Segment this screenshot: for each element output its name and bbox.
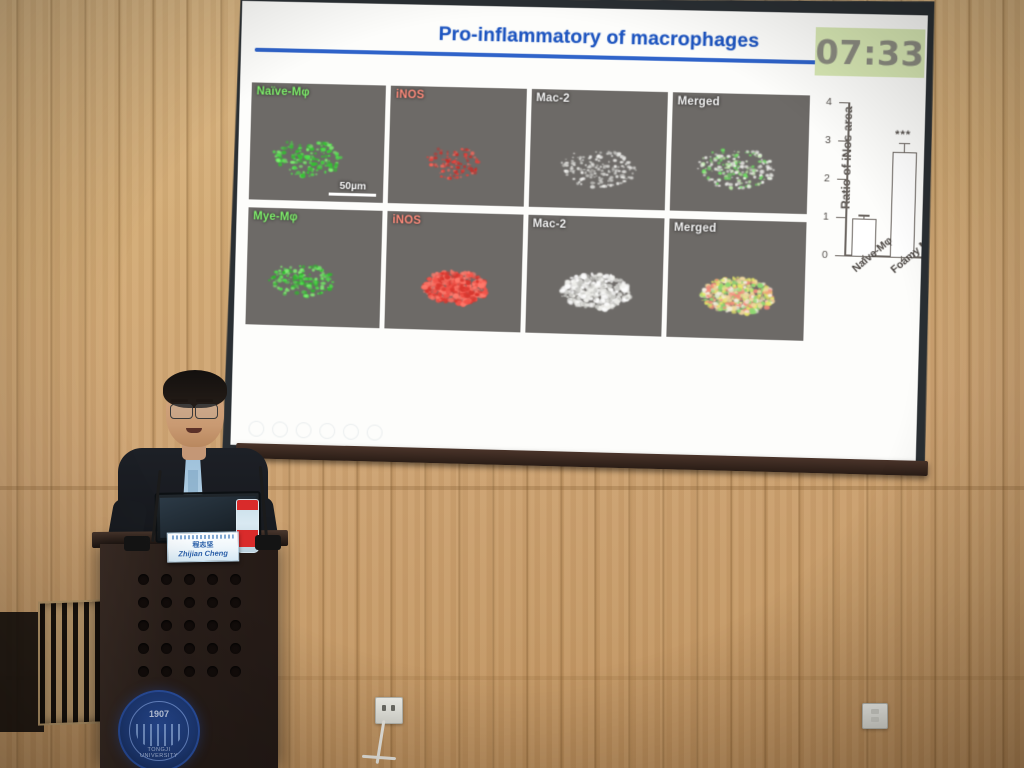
fluorescence-speckle — [308, 286, 312, 290]
fluorescence-speckle — [587, 167, 589, 169]
fluorescence-speckle — [324, 171, 327, 173]
fluorescence-speckle — [704, 156, 708, 159]
fluorescence-speckle — [744, 152, 746, 154]
fluorescence-speckle — [315, 286, 319, 289]
fluorescence-speckle — [305, 164, 307, 165]
fluorescence-speckle — [725, 167, 728, 169]
fluorescence-speckle — [315, 173, 318, 175]
fluorescence-speckle — [299, 165, 303, 168]
fluorescence-speckle — [627, 165, 631, 168]
micrograph-row-naive: Naïve-Mφ 50µm iNOS Mac-2 Merged — [249, 82, 810, 214]
fluorescence-speckle — [715, 153, 718, 155]
fluorescence-speckle — [290, 150, 292, 152]
fluorescence-speckle — [320, 284, 324, 287]
logo-year: 1907 — [130, 709, 188, 719]
fluorescence-speckle — [324, 143, 327, 146]
fluorescence-speckle — [733, 285, 736, 288]
fluorescence-speckle — [294, 291, 299, 295]
fluorescence-speckle — [631, 173, 633, 175]
fluorescence-speckle — [292, 281, 296, 284]
fluorescence-speckle — [614, 165, 617, 167]
fluorescence-speckle — [289, 266, 292, 269]
fluorescence-speckle — [621, 170, 625, 173]
fluorescence-speckle — [588, 164, 591, 166]
podium-vent-hole — [138, 643, 149, 654]
fluorescence-speckle — [431, 273, 435, 276]
fluorescence-speckle — [733, 151, 735, 152]
fluorescence-speckle — [452, 175, 455, 177]
scale-bar: 50µm — [329, 180, 377, 197]
fluorescence-speckle — [330, 278, 332, 280]
fluorescence-speckle — [611, 155, 614, 157]
fluorescence-speckle — [309, 274, 311, 276]
fluorescence-speckle — [589, 277, 592, 279]
chart-y-tick-label: 0 — [822, 249, 828, 261]
fluorescence-speckle — [464, 148, 468, 151]
fluorescence-speckle — [604, 302, 609, 306]
podium-vent-hole — [207, 666, 218, 677]
fluorescence-speckle — [635, 169, 637, 171]
fluorescence-speckle — [717, 179, 721, 183]
university-logo: 1907 TONGJI UNIVERSITY — [118, 690, 200, 768]
fluorescence-speckle — [483, 290, 490, 295]
fluorescence-speckle — [616, 166, 619, 169]
fluorescence-speckle — [749, 299, 752, 301]
fluorescence-speckle — [734, 168, 736, 170]
fluorescence-speckle — [607, 171, 610, 173]
fluorescence-speckle — [722, 279, 725, 282]
fluorescence-speckle — [605, 173, 609, 176]
fluorescence-speckle — [275, 279, 277, 281]
fluorescence-speckle — [433, 294, 435, 296]
fluorescence-speckle — [593, 303, 595, 305]
fluorescence-speckle — [752, 170, 754, 172]
fluorescence-speckle — [709, 159, 712, 162]
fluorescence-speckle — [566, 174, 569, 176]
microphone-left-base — [124, 536, 150, 551]
name-placard: 程志坚 Zhijian Cheng — [167, 531, 240, 562]
fluorescence-speckle — [589, 156, 593, 159]
fluorescence-speckle — [602, 284, 606, 287]
fluorescence-speckle — [439, 299, 441, 301]
podium-vent-hole — [207, 643, 218, 654]
fluorescence-speckle — [713, 157, 716, 159]
fluorescence-speckle — [310, 293, 314, 296]
fluorescence-speckle — [584, 306, 587, 308]
chart-y-tick-label: 4 — [826, 96, 832, 108]
fluorescence-speckle — [468, 278, 471, 280]
fluorescence-speckle — [615, 287, 620, 291]
fluorescence-speckle — [317, 293, 320, 295]
fluorescence-speckle — [460, 279, 464, 282]
fluorescence-speckle — [596, 152, 598, 153]
fluorescence-speckle — [461, 169, 465, 172]
podium-vent-hole — [184, 574, 195, 585]
fluorescence-speckle — [581, 286, 585, 289]
fluorescence-speckle — [317, 141, 321, 144]
fluorescence-speckle — [723, 164, 725, 166]
fluorescence-speckle — [743, 177, 746, 179]
screen-surface: Pro-inflammatory of macrophages 07:33 Na… — [230, 1, 927, 467]
fluorescence-speckle — [308, 167, 313, 171]
fluorescence-speckle — [737, 165, 739, 167]
wall-socket[interactable] — [375, 697, 403, 724]
podium-vent-hole — [207, 574, 218, 585]
fluorescence-speckle — [755, 184, 757, 186]
fluorescence-speckle — [606, 165, 610, 168]
fluorescence-speckle — [469, 155, 472, 158]
podium-vent-hole — [138, 666, 149, 677]
fluorescence-speckle — [314, 152, 317, 154]
fluorescence-speckle — [587, 282, 590, 284]
fluorescence-speckle — [745, 161, 747, 163]
fluorescence-speckle — [602, 185, 605, 187]
chart-y-tick-label: 2 — [824, 172, 830, 184]
podium-vent-hole — [207, 597, 218, 608]
logo-ring: 1907 TONGJI UNIVERSITY — [129, 701, 189, 761]
fluorescence-speckle — [282, 151, 287, 155]
more-icon[interactable] — [367, 424, 383, 440]
panel-label: Naïve-Mφ — [256, 85, 309, 98]
fluorescence-speckle — [609, 274, 612, 276]
panel-label: iNOS — [392, 214, 421, 227]
fluorescence-speckle — [734, 171, 738, 174]
fluorescence-speckle — [290, 145, 294, 148]
fluorescence-speckle — [431, 289, 436, 293]
fluorescence-speckle — [304, 295, 307, 298]
fluorescence-speckle — [426, 156, 429, 158]
fluorescence-speckle — [470, 172, 473, 175]
fluorescence-speckle — [751, 310, 756, 314]
fluorescence-speckle — [308, 266, 311, 268]
fluorescence-speckle — [596, 175, 597, 176]
pen-icon[interactable] — [248, 421, 264, 437]
fluorescence-speckle — [430, 159, 434, 162]
fluorescence-speckle — [613, 159, 617, 162]
fluorescence-speckle — [590, 293, 593, 295]
bottle-cap — [237, 500, 258, 510]
fluorescence-speckle — [767, 169, 769, 170]
fluorescence-speckle — [615, 175, 618, 177]
fluorescence-speckle — [592, 275, 596, 278]
zoom-icon[interactable] — [343, 424, 359, 440]
fluorescence-speckle — [629, 176, 633, 179]
fluorescence-speckle — [456, 287, 458, 289]
fluorescence-speckle — [428, 287, 431, 290]
fluorescence-speckle — [299, 150, 301, 152]
fluorescence-speckle — [456, 299, 458, 301]
fluorescence-speckle — [453, 154, 455, 156]
logo-emblem — [136, 724, 182, 746]
fluorescence-speckle — [745, 310, 749, 314]
podium-vent-hole — [138, 597, 149, 608]
fluorescence-speckle — [747, 185, 751, 188]
chart-y-tick-label: 3 — [825, 134, 831, 146]
projection-screen: Pro-inflammatory of macrophages 07:33 Na… — [219, 0, 937, 480]
fluorescence-speckle — [451, 160, 454, 162]
fluorescence-speckle — [315, 169, 318, 171]
fluorescence-speckle — [465, 280, 471, 285]
fluorescence-speckle — [601, 169, 603, 171]
fluorescence-speckle — [327, 279, 329, 281]
highlighter-icon[interactable] — [272, 421, 288, 437]
fluorescence-speckle — [715, 293, 720, 297]
fluorescence-speckle — [444, 176, 446, 177]
fluorescence-speckle — [590, 182, 594, 185]
fluorescence-speckle — [731, 177, 733, 178]
fluorescence-speckle — [287, 284, 289, 286]
fluorescence-speckle — [466, 160, 469, 163]
fluorescence-speckle — [444, 301, 447, 304]
fluorescence-speckle — [741, 171, 744, 173]
fluorescence-speckle — [303, 274, 306, 276]
fluorescence-speckle — [610, 179, 614, 182]
fluorescence-speckle — [474, 169, 477, 171]
fluorescence-speckle — [760, 155, 763, 157]
fluorescence-speckle — [325, 159, 328, 161]
podium-vent-hole — [230, 643, 241, 654]
panel-mye-green: Mye-Mφ — [245, 207, 382, 328]
fluorescence-speckle — [620, 284, 625, 288]
fluorescence-speckle — [440, 165, 444, 168]
fluorescence-speckle — [448, 177, 451, 180]
speaker-brow-right — [196, 399, 213, 402]
fluorescence-speckle — [312, 290, 314, 292]
fluorescence-speckle — [567, 299, 572, 303]
fluorescence-speckle — [333, 151, 337, 154]
fluorescence-speckle — [324, 155, 328, 158]
fluorescence-speckle — [299, 265, 301, 266]
fluorescence-speckle — [727, 306, 733, 311]
podium-vent-hole — [230, 574, 241, 585]
panel-label: Mac-2 — [533, 218, 567, 231]
fluorescence-speckle — [602, 165, 606, 168]
switch-rocker-lower — [871, 717, 879, 722]
fluorescence-speckle — [310, 152, 312, 154]
fluorescence-speckle — [594, 177, 595, 178]
podium-vent-hole — [138, 620, 149, 631]
chart-y-tick — [839, 102, 848, 104]
fluorescence-speckle — [709, 301, 712, 304]
fluorescence-speckle — [751, 284, 756, 288]
eyeglasses-left-lens — [170, 404, 193, 419]
fluorescence-speckle — [445, 275, 450, 279]
fluorescence-speckle — [444, 294, 450, 299]
fluorescence-speckle — [586, 174, 590, 177]
fluorescence-speckle — [719, 162, 721, 164]
chart-y-tick — [838, 140, 847, 142]
fluorescence-speckle — [273, 151, 276, 154]
fluorescence-speckle — [460, 173, 462, 175]
fluorescence-speckle — [277, 279, 282, 283]
fluorescence-speckle — [737, 151, 740, 154]
fluorescence-speckle — [439, 172, 440, 173]
fluorescence-speckle — [291, 173, 294, 175]
fluorescence-speckle — [285, 280, 289, 284]
fluorescence-speckle — [566, 291, 569, 293]
fluorescence-speckle — [328, 273, 332, 277]
fluorescence-speckle — [751, 152, 754, 154]
fluorescence-speckle — [585, 164, 587, 166]
fluorescence-speckle — [478, 283, 484, 288]
fluorescence-speckle — [726, 169, 730, 172]
fluorescence-speckle — [298, 159, 303, 163]
podium-vent-hole — [161, 666, 172, 677]
fluorescence-speckle — [466, 174, 468, 176]
fluorescence-speckle — [582, 173, 584, 174]
chart-x-tick-labels: Naïve-MφFoamy Mφ — [816, 98, 928, 101]
fluorescence-speckle — [464, 154, 468, 157]
fluorescence-speckle — [452, 298, 454, 300]
fluorescence-speckle — [573, 164, 576, 166]
fluorescence-speckle — [327, 150, 331, 153]
fluorescence-speckle — [726, 163, 730, 166]
fluorescence-speckle — [457, 287, 461, 290]
fluorescence-speckle — [455, 166, 458, 168]
fluorescence-speckle — [569, 293, 573, 296]
podium-vent-hole — [184, 620, 195, 631]
fluorescence-speckle — [763, 296, 766, 298]
fluorescence-speckle — [268, 279, 270, 281]
fluorescence-speckle — [613, 151, 616, 154]
chart-error-bar — [863, 217, 864, 220]
slides-icon[interactable] — [319, 423, 335, 439]
socket-slot-right — [391, 705, 395, 711]
fluorescence-speckle — [737, 168, 739, 169]
light-switch[interactable] — [862, 703, 888, 729]
fluorescence-speckle — [757, 304, 763, 309]
fluorescence-speckle — [304, 291, 307, 294]
fluorescence-speckle — [289, 169, 291, 170]
fluorescence-speckle — [327, 281, 329, 283]
fluorescence-speckle — [563, 294, 566, 297]
fluorescence-speckle — [456, 158, 458, 160]
fluorescence-speckle — [582, 294, 586, 297]
placard-name-en: Zhijian Cheng — [168, 548, 238, 558]
podium-vent-hole — [230, 666, 241, 677]
fluorescence-speckle — [477, 290, 479, 292]
fluorescence-speckle — [614, 300, 620, 305]
fluorescence-speckle — [446, 153, 449, 155]
speaker-mouth — [186, 428, 202, 433]
fluorescence-speckle — [730, 162, 735, 166]
fluorescence-speckle — [581, 163, 583, 164]
fluorescence-speckle — [760, 175, 763, 178]
fluorescence-speckle — [616, 155, 618, 157]
fluorescence-speckle — [433, 278, 438, 282]
panel-mye-merged: Merged — [666, 219, 806, 341]
fluorescence-speckle — [608, 161, 610, 162]
fluorescence-speckle — [581, 274, 587, 279]
fluorescence-speckle — [572, 298, 574, 300]
fluorescence-speckle — [434, 163, 438, 166]
pointer-icon[interactable] — [296, 422, 312, 438]
fluorescence-speckle — [737, 156, 740, 158]
fluorescence-speckle — [741, 161, 745, 165]
fluorescence-speckle — [749, 154, 752, 156]
fluorescence-speckle — [440, 155, 442, 156]
fluorescence-speckle — [460, 294, 463, 297]
fluorescence-speckle — [316, 148, 319, 151]
fluorescence-speckle — [758, 297, 760, 299]
fluorescence-speckle — [454, 171, 458, 174]
fluorescence-speckle — [428, 278, 432, 281]
podium-vent-hole — [161, 597, 172, 608]
micrograph-grid: Naïve-Mφ 50µm iNOS Mac-2 Merged — [245, 82, 810, 344]
fluorescence-speckle — [625, 296, 629, 299]
fluorescence-speckle — [463, 300, 468, 304]
presentation-timer: 07:33 — [815, 27, 926, 78]
fluorescence-speckle — [285, 141, 289, 144]
fluorescence-speckle — [283, 267, 286, 270]
fluorescence-speckle — [321, 148, 326, 152]
panel-label: Mac-2 — [536, 92, 570, 105]
fluorescence-speckle — [599, 152, 602, 154]
fluorescence-speckle — [446, 160, 450, 163]
logo-text: TONGJI UNIVERSITY — [130, 747, 188, 759]
podium-vent-hole — [207, 620, 218, 631]
fluorescence-speckle — [323, 274, 326, 277]
fluorescence-speckle — [329, 285, 333, 288]
panel-naive-green: Naïve-Mφ 50µm — [249, 82, 386, 203]
fluorescence-speckle — [314, 277, 318, 280]
fluorescence-speckle — [703, 174, 706, 177]
ppt-presenter-toolbar[interactable] — [248, 421, 382, 441]
fluorescence-speckle — [764, 305, 770, 310]
fluorescence-speckle — [460, 176, 462, 178]
fluorescence-speckle — [621, 165, 624, 167]
fluorescence-speckle — [594, 290, 598, 293]
fluorescence-speckle — [734, 298, 739, 302]
fluorescence-speckle — [724, 182, 728, 185]
fluorescence-speckle — [572, 281, 576, 284]
fluorescence-speckle — [564, 284, 570, 289]
scale-bar-label: 50µm — [329, 180, 377, 193]
fluorescence-speckle — [460, 163, 462, 165]
fluorescence-speckle — [565, 158, 567, 159]
podium-vent-hole — [161, 620, 172, 631]
fluorescence-speckle — [711, 170, 713, 171]
fluorescence-speckle — [773, 169, 776, 171]
fluorescence-speckle — [286, 162, 288, 163]
fluorescence-speckle — [434, 152, 438, 155]
socket-slot-left — [382, 705, 386, 711]
fluorescence-speckle — [708, 293, 713, 297]
panel-label: iNOS — [396, 89, 425, 102]
fluorescence-speckle — [702, 287, 707, 291]
panel-label: Merged — [677, 95, 720, 108]
fluorescence-speckle — [306, 172, 309, 175]
fluorescence-speckle — [463, 165, 466, 167]
fluorescence-speckle — [303, 171, 305, 173]
fluorescence-speckle — [582, 156, 586, 159]
fluorescence-speckle — [720, 299, 723, 301]
fluorescence-speckle — [306, 148, 309, 150]
fluorescence-speckle — [451, 280, 454, 282]
speaker-hair — [163, 370, 227, 408]
fluorescence-speckle — [447, 282, 449, 284]
chart-y-tick — [836, 217, 845, 219]
fluorescence-speckle — [605, 168, 606, 169]
chart-y-ticks: 01234 — [816, 98, 928, 101]
panel-naive-merged: Merged — [670, 92, 811, 214]
fluorescence-speckle — [298, 155, 303, 159]
panel-label: Merged — [674, 222, 717, 235]
podium-vent-hole — [184, 666, 195, 677]
fluorescence-speckle — [276, 159, 280, 163]
fluorescence-speckle — [622, 155, 624, 157]
chart-y-tick — [835, 255, 844, 257]
